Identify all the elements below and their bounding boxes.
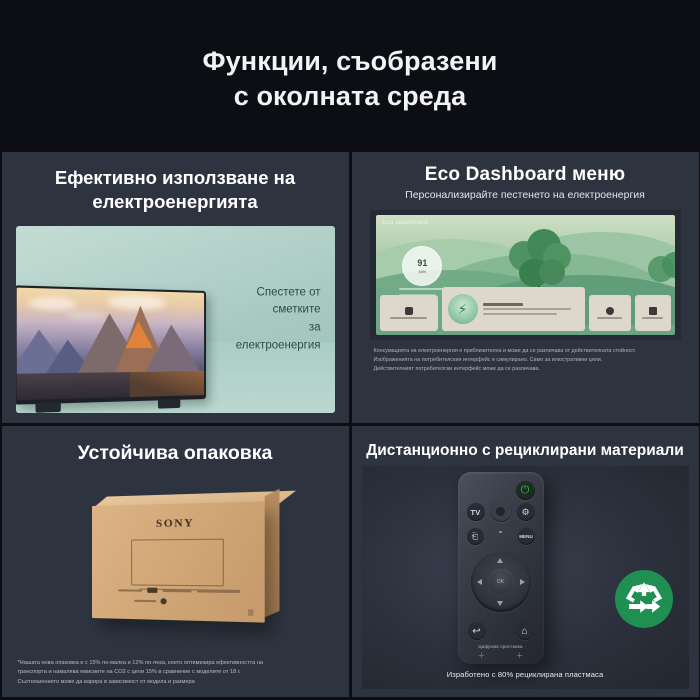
input-source-icon[interactable]: ⎗ [467, 528, 484, 545]
fineprint-line-3: Съотношението може да варира в зависимос… [18, 678, 333, 688]
tile-eco-menu[interactable] [380, 295, 438, 331]
bolt-icon: ⚡ [458, 302, 468, 316]
tree-foliage [539, 259, 565, 285]
page-root: Функции, съобразени с околната среда Ефе… [0, 0, 700, 700]
panel-sustainable-packaging[interactable]: Устойчива опаковка SONY [2, 426, 349, 697]
box-tv-outline-icon [131, 538, 224, 586]
remote-control[interactable]: ⏻ TV ⚙ ⎗ MENU ОК ↩ ⌂ [458, 472, 544, 664]
power-button-icon[interactable]: ⏻ [516, 481, 535, 500]
tile-icon [649, 307, 657, 315]
panel-remote-title: Дистанционно с рециклирани материали [362, 442, 689, 460]
tv-product-scene: Спестете от сметките за електроенергия [16, 226, 335, 413]
box-print-mark [147, 587, 157, 592]
dpad-center-ok-button[interactable]: ОК [488, 569, 514, 595]
packaging-fineprint: *Нашата нова опаковка е с 15% по-малка и… [18, 659, 333, 688]
fineprint-line-1: *Нашата нова опаковка е с 15% по-малка и… [18, 659, 333, 669]
microphone-button-icon[interactable] [490, 500, 512, 522]
settings-wrench-icon[interactable]: ⚙ [517, 503, 535, 521]
tv-screen [16, 288, 203, 401]
tile-power-saving[interactable]: ⚡ [442, 287, 585, 331]
box-print-line [162, 589, 191, 591]
panel-recycled-remote[interactable]: Дистанционно с рециклирани материали ⏻ T… [352, 426, 699, 697]
box-corner-mark [248, 609, 254, 616]
tv-stand-foot [157, 399, 179, 409]
panel-energy-efficiency[interactable]: Ефективно използване на електроенергията [2, 152, 349, 423]
status-led-icon [499, 531, 501, 533]
eco-dashboard-screen: Eco Dashboard 91 kWh [376, 215, 675, 335]
panel-energy-title: Ефективно използване на електроенергията [16, 166, 335, 214]
tile-body-line [483, 313, 558, 315]
tile-label-line [642, 317, 663, 319]
tile-label-line [390, 317, 426, 319]
box-print-line [134, 599, 156, 601]
tree-icon [648, 252, 674, 292]
tile-label-line [597, 317, 622, 319]
box-print-row [134, 597, 167, 604]
fineprint-line-2: транспорта и намалява емисиите на CO2 с … [18, 668, 333, 678]
chevron-up-icon[interactable] [497, 558, 503, 563]
remote-section-label: Цифрова приставка [466, 644, 536, 649]
tile-body-line [483, 308, 571, 310]
remote-scene: ⏻ TV ⚙ ⎗ MENU ОК ↩ ⌂ [362, 466, 689, 689]
overlay-line-2: сметките [236, 302, 321, 320]
energy-saving-overlay-text: Спестете от сметките за електроенергия [236, 284, 321, 355]
packaging-box-scene: SONY [14, 465, 337, 659]
gauge-unit: kWh [419, 270, 426, 274]
fineprint-line-1: Консумацията на електроенергия е приблиз… [374, 347, 677, 356]
fineprint-line-3: Действителният потребителски интерфейс м… [374, 365, 677, 374]
chevron-right-icon[interactable] [520, 579, 525, 585]
box-print-mark [161, 598, 167, 604]
back-arrow-icon[interactable]: ↩ [468, 622, 486, 640]
panel-eco-dashboard[interactable]: Eco Dashboard меню Персонализирайте пест… [352, 152, 699, 423]
eco-dashboard-tiles: ⚡ [380, 287, 671, 331]
cloud-icon [28, 297, 76, 311]
box-print-line [197, 589, 240, 593]
menu-button[interactable]: MENU [518, 528, 535, 545]
tile-title-line [483, 303, 523, 306]
chevron-left-icon[interactable] [477, 579, 482, 585]
panel-eco-subtitle: Персонализирайте пестенето на електроене… [364, 189, 687, 201]
volume-up-button[interactable]: + [476, 650, 488, 662]
tile-icon [405, 307, 413, 315]
fineprint-line-2: Изображенията на потребителския интерфей… [374, 356, 677, 365]
tv-unit [16, 285, 206, 404]
page-title: Функции, съобразени с околната среда [203, 44, 498, 113]
feature-grid: Ефективно използване на електроенергията [0, 152, 700, 700]
box-print-row [118, 587, 243, 594]
dpad-control[interactable]: ОК [471, 552, 531, 612]
tile-auto-off-no-video[interactable] [635, 295, 671, 331]
panel-energy-title-line2: електроенергията [92, 191, 257, 212]
home-icon[interactable]: ⌂ [516, 622, 534, 640]
mountain-sunlit-peak [126, 321, 153, 348]
overlay-line-3: за [236, 320, 321, 338]
page-header: Функции, съобразени с околната среда [0, 0, 700, 152]
tile-icon [606, 307, 614, 315]
panel-eco-title: Eco Dashboard меню [364, 164, 687, 186]
box-front-face: SONY [92, 501, 265, 622]
box-print-line [118, 589, 142, 591]
panel-packaging-title: Устойчива опаковка [14, 442, 337, 465]
page-title-line2: с околната среда [203, 79, 498, 114]
overlay-line-4: електроенергия [236, 337, 321, 355]
panel-energy-title-line1: Ефективно използване на [55, 167, 295, 188]
remote-caption: Изработено с 80% рециклирана пластмаса [362, 670, 689, 679]
box-side-face [265, 489, 280, 618]
eco-dashboard-screen-frame: Eco Dashboard 91 kWh [370, 210, 681, 340]
chevron-down-icon[interactable] [497, 601, 503, 606]
tile-auto-off-no-signal[interactable] [589, 295, 631, 331]
tile-text-lines [483, 303, 579, 315]
eco-dashboard-screen-label: Eco Dashboard [383, 220, 428, 226]
hands-leaf-icon: ⚡ [448, 294, 478, 324]
gauge-value: 91 [417, 259, 427, 268]
eco-dashboard-fineprint: Консумацията на електроенергия е приблиз… [374, 347, 677, 374]
page-title-line1: Функции, съобразени [203, 46, 498, 76]
foreground-ground-warm [129, 371, 203, 398]
cardboard-box: SONY [92, 501, 265, 622]
tv-button[interactable]: TV [467, 503, 485, 521]
sony-logo: SONY [156, 517, 194, 530]
tv-stand-foot [35, 402, 60, 413]
overlay-line-1: Спестете от [236, 284, 321, 302]
recycle-icon [615, 570, 673, 628]
channel-up-button[interactable]: + [514, 650, 526, 662]
